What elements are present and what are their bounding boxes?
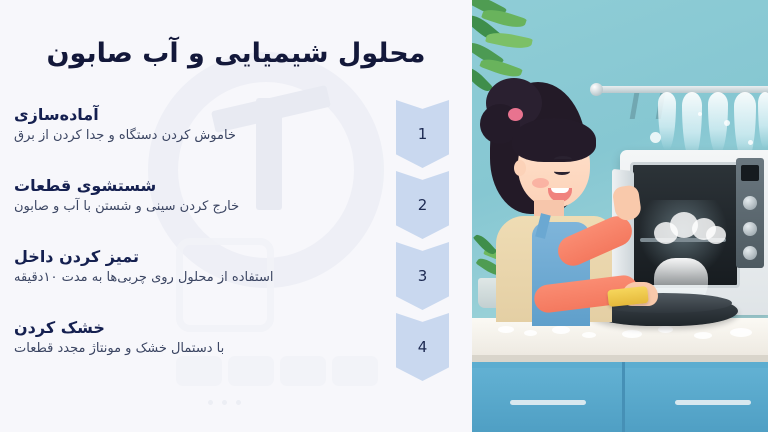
soap-bubble (650, 132, 661, 143)
oven-knob[interactable] (743, 196, 757, 210)
step-number-4: 4 (418, 338, 428, 356)
step-title-3: تمیز کردن داخل (14, 245, 404, 268)
infographic-slide: محلول شیمیایی و آب صابون آماده‌سازی خامو… (0, 0, 768, 432)
step-chevron-1: 1 (396, 100, 449, 168)
step-description-3: استفاده از محلول روی چربی‌ها به مدت ۱۰دق… (14, 268, 404, 289)
cabinet-divider (622, 362, 625, 432)
oven-foam (654, 212, 726, 246)
step-number-3: 3 (418, 267, 428, 285)
step-chevron-2: 2 (396, 171, 449, 239)
rail-end-knob (590, 83, 603, 96)
step-text-1: آماده‌سازی خاموش کردن دستگاه و جدا کردن … (14, 103, 404, 147)
step-chevron-3: 3 (396, 242, 449, 310)
step-text-4: خشک کردن با دستمال خشک و مونتاژ مجدد قطع… (14, 316, 404, 360)
step-item-2[interactable]: شستشوی قطعات خارج کردن سینی و شستن با آب… (0, 171, 472, 241)
page-title: محلول شیمیایی و آب صابون (26, 38, 446, 70)
step-title-4: خشک کردن (14, 316, 404, 339)
step-item-4[interactable]: خشک کردن با دستمال خشک و مونتاژ مجدد قطع… (0, 313, 472, 383)
counter-suds (498, 326, 514, 333)
countertop (472, 318, 768, 360)
soap-bubble (748, 140, 753, 145)
counter-suds (524, 330, 537, 336)
step-number-2: 2 (418, 196, 428, 214)
step-item-1[interactable]: آماده‌سازی خاموش کردن دستگاه و جدا کردن … (0, 100, 472, 170)
girl-eyebrow (554, 156, 572, 163)
cabinet-handle-right[interactable] (675, 400, 751, 405)
step-item-3[interactable]: تمیز کردن داخل استفاده از محلول روی چربی… (0, 242, 472, 312)
step-description-4: با دستمال خشک و مونتاژ مجدد قطعات (14, 339, 404, 360)
girl-hair-fringe (512, 118, 596, 162)
girl-hair-tie (508, 108, 523, 121)
counter-suds (552, 326, 570, 334)
counter-suds (658, 326, 673, 333)
steps-list: آماده‌سازی خاموش کردن دستگاه و جدا کردن … (0, 100, 472, 384)
oven-display (741, 165, 759, 181)
oven-knob[interactable] (743, 246, 757, 260)
counter-suds (730, 328, 752, 337)
cabinet-handle-left[interactable] (510, 400, 586, 405)
oven-knob[interactable] (743, 222, 757, 236)
counter-suds (622, 330, 642, 338)
content-panel: محلول شیمیایی و آب صابون آماده‌سازی خامو… (0, 0, 472, 432)
counter-suds (694, 332, 712, 339)
step-title-1: آماده‌سازی (14, 103, 404, 126)
illustration-panel (472, 0, 768, 432)
step-text-2: شستشوی قطعات خارج کردن سینی و شستن با آب… (14, 174, 404, 218)
girl-eye (554, 168, 570, 175)
step-number-1: 1 (418, 125, 428, 143)
watermark-dots (208, 400, 248, 405)
girl-teeth (551, 188, 569, 193)
girl-cheek-blush (532, 178, 549, 188)
step-description-1: خاموش کردن دستگاه و جدا کردن از برق (14, 126, 404, 147)
girl-ear (514, 160, 526, 176)
step-description-2: خارج کردن سینی و شستن با آب و صابون (14, 197, 404, 218)
step-text-3: تمیز کردن داخل استفاده از محلول روی چربی… (14, 245, 404, 289)
step-chevron-4: 4 (396, 313, 449, 381)
step-title-2: شستشوی قطعات (14, 174, 404, 197)
counter-suds (582, 332, 596, 338)
soap-bubble (724, 120, 730, 126)
soap-bubble (698, 112, 702, 116)
